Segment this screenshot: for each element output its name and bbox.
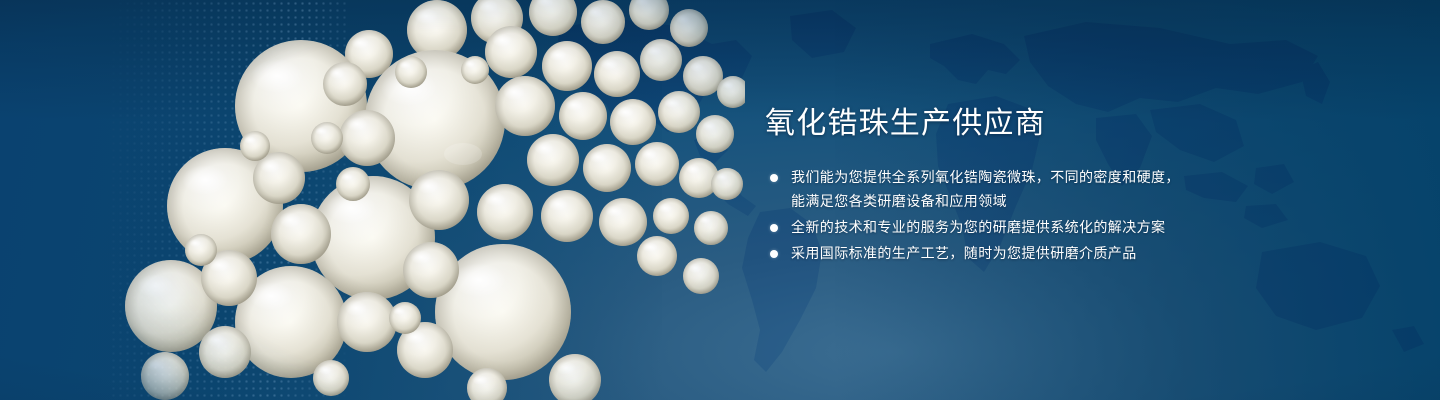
list-item-line2: 能满足您各类研磨设备和应用领域 xyxy=(791,190,1385,214)
bullet-dot-icon xyxy=(770,250,778,258)
feature-list: 我们能为您提供全系列氧化锆陶瓷微珠，不同的密度和硬度， 能满足您各类研磨设备和应… xyxy=(765,166,1385,266)
list-item-line1: 全新的技术和专业的服务为您的研磨提供系统化的解决方案 xyxy=(791,220,1165,236)
page-title: 氧化锆珠生产供应商 xyxy=(765,104,1385,144)
banner-copy: 氧化锆珠生产供应商 我们能为您提供全系列氧化锆陶瓷微珠，不同的密度和硬度， 能满… xyxy=(765,104,1385,268)
list-item: 采用国际标准的生产工艺，随时为您提供研磨介质产品 xyxy=(765,242,1385,266)
list-item: 我们能为您提供全系列氧化锆陶瓷微珠，不同的密度和硬度， 能满足您各类研磨设备和应… xyxy=(765,166,1385,214)
hero-banner: 氧化锆珠生产供应商 我们能为您提供全系列氧化锆陶瓷微珠，不同的密度和硬度， 能满… xyxy=(0,0,1440,400)
zirconia-beads-photo xyxy=(105,0,745,400)
list-item-line1: 我们能为您提供全系列氧化锆陶瓷微珠，不同的密度和硬度， xyxy=(791,170,1180,186)
bullet-dot-icon xyxy=(770,224,778,232)
list-item-line1: 采用国际标准的生产工艺，随时为您提供研磨介质产品 xyxy=(791,246,1137,262)
bullet-dot-icon xyxy=(770,174,778,182)
list-item: 全新的技术和专业的服务为您的研磨提供系统化的解决方案 xyxy=(765,216,1385,240)
